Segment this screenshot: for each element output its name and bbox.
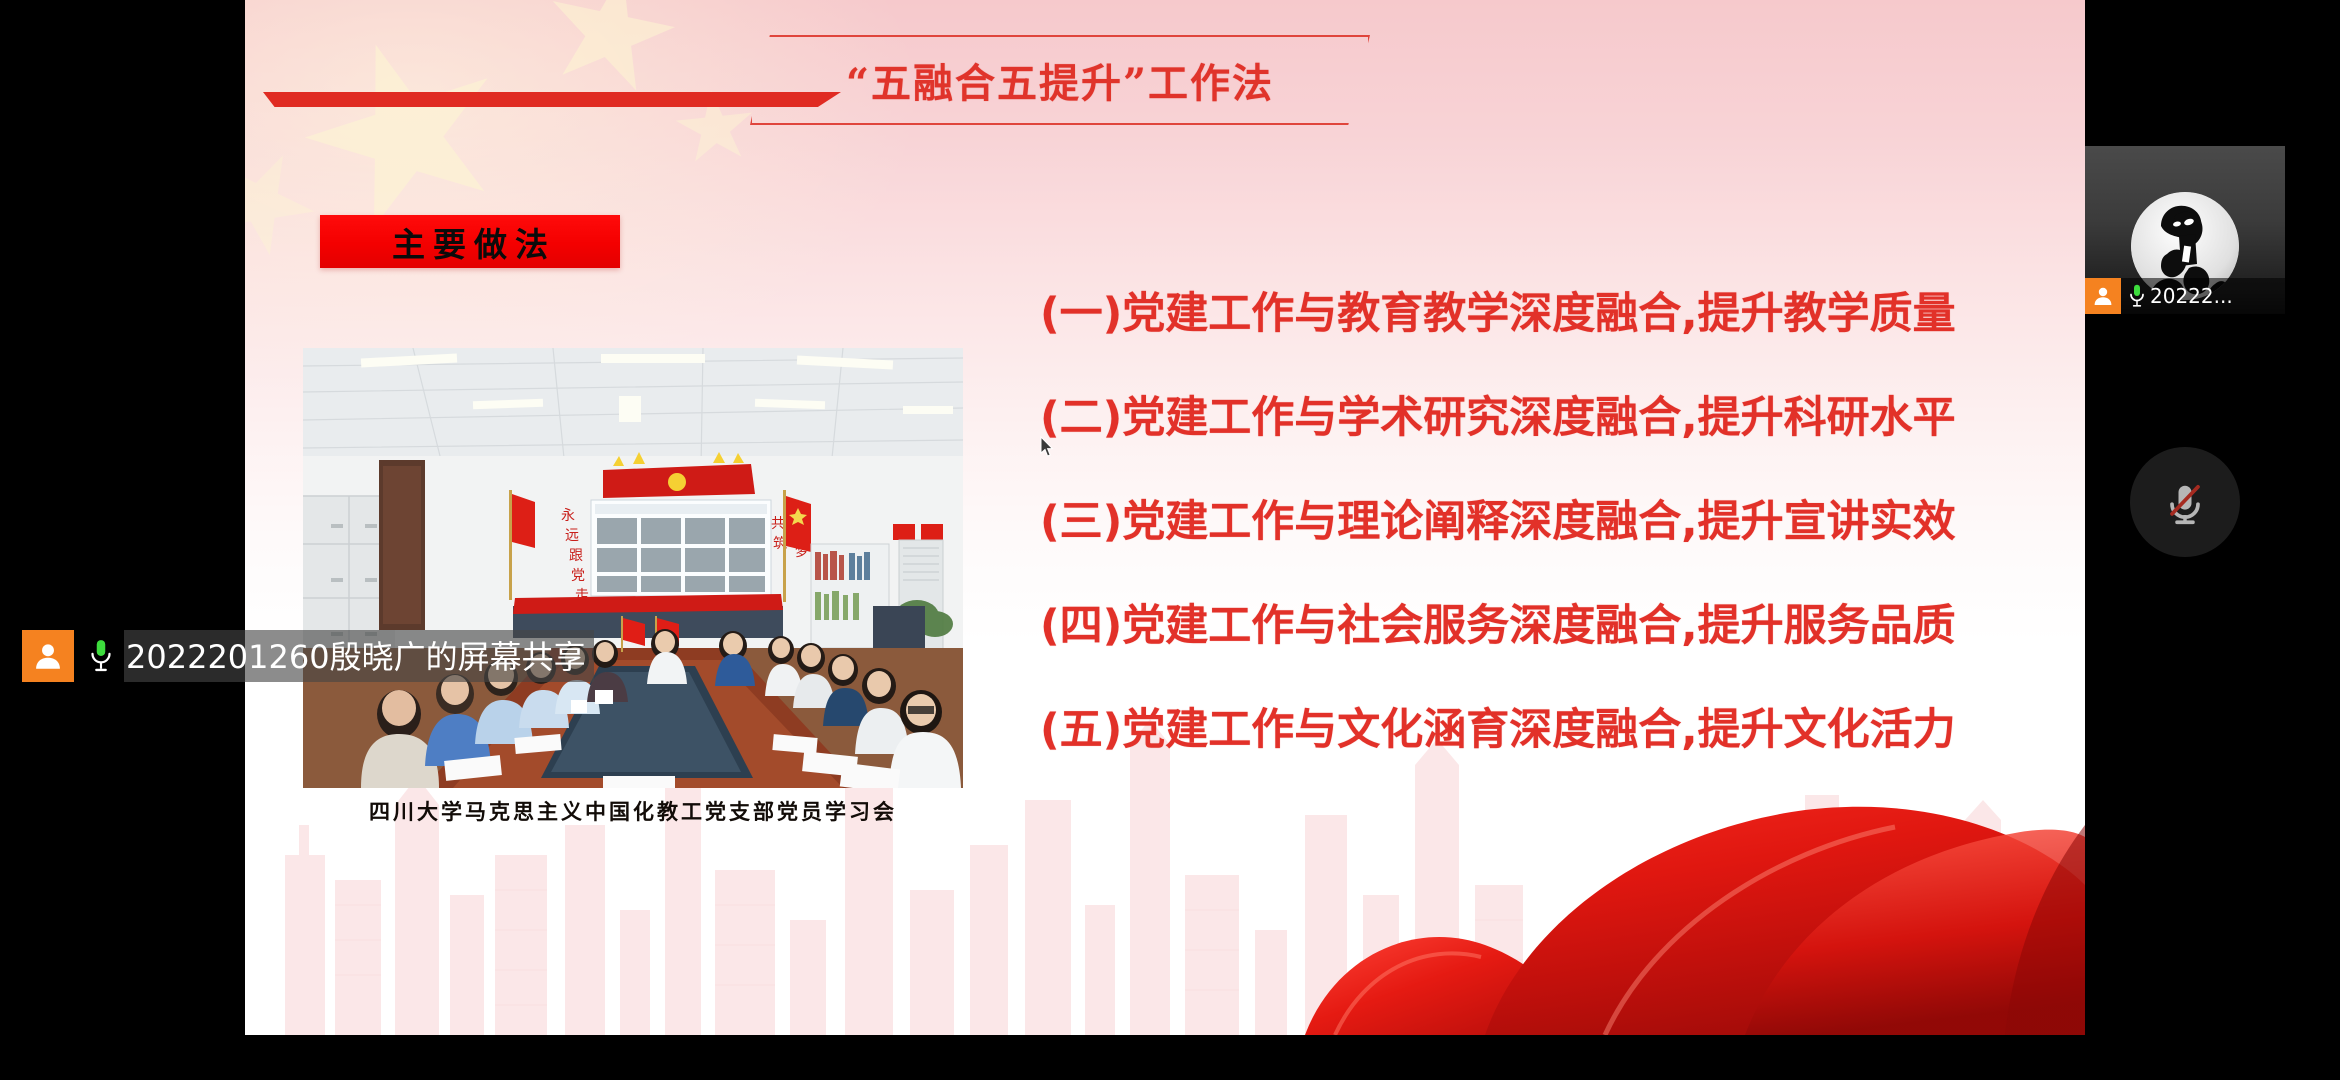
person-icon (2085, 278, 2121, 314)
slide-photo-block: 永远跟党走 共筑 中国梦 (303, 348, 963, 788)
svg-text:永: 永 (561, 508, 575, 524)
screen-share-status-bar: 2022201260殷晓广的屏幕共享 (22, 629, 594, 683)
section-badge-label: 主要做法 (384, 218, 556, 266)
slide-title: “五融合五提升”工作法 (750, 35, 1370, 125)
mouse-cursor-icon (1040, 436, 1054, 458)
person-icon (22, 630, 74, 682)
participant-name-bar: 20222... (2085, 278, 2285, 314)
section-badge: 主要做法 (320, 215, 620, 268)
microphone-on-icon (2128, 284, 2146, 308)
bullet-item-2: (二)党建工作与学术研究深度融合,提升科研水平 (1040, 397, 2060, 440)
bullet-item-4: (四)党建工作与社会服务深度融合,提升服务品质 (1040, 605, 2060, 648)
microphone-on-icon (88, 639, 114, 673)
svg-text:远: 远 (565, 528, 579, 544)
svg-text:党: 党 (571, 568, 585, 584)
screen-share-meeting-window: “五融合五提升”工作法 主要做法 (0, 0, 2340, 1080)
title-underline-bar (263, 92, 841, 107)
shared-slide[interactable]: “五融合五提升”工作法 主要做法 (245, 0, 2085, 1035)
participants-panel: 20222... (2085, 0, 2340, 1080)
slide-title-banner: “五融合五提升”工作法 (750, 35, 1370, 125)
bullet-item-1: (一)党建工作与教育教学深度融合,提升教学质量 (1040, 293, 2060, 336)
bullet-item-3: (三)党建工作与理论阐释深度融合,提升宣讲实效 (1040, 501, 2060, 544)
svg-text:跟: 跟 (569, 548, 583, 564)
bullet-list: (一)党建工作与教育教学深度融合,提升教学质量 (二)党建工作与学术研究深度融合… (1040, 293, 2060, 752)
photo-caption: 四川大学马克思主义中国化教工党支部党员学习会 (303, 796, 963, 826)
participant-name: 20222... (2150, 284, 2233, 308)
bullet-item-5: (五)党建工作与文化涵育深度融合,提升文化活力 (1040, 709, 2060, 752)
participant-tile[interactable]: 20222... (2085, 146, 2285, 314)
svg-text:共: 共 (771, 516, 785, 532)
microphone-muted-icon (2159, 476, 2211, 528)
screen-share-label: 2022201260殷晓广的屏幕共享 (124, 630, 594, 682)
mute-button[interactable] (2130, 447, 2240, 557)
meeting-photo: 永远跟党走 共筑 中国梦 (303, 348, 963, 788)
